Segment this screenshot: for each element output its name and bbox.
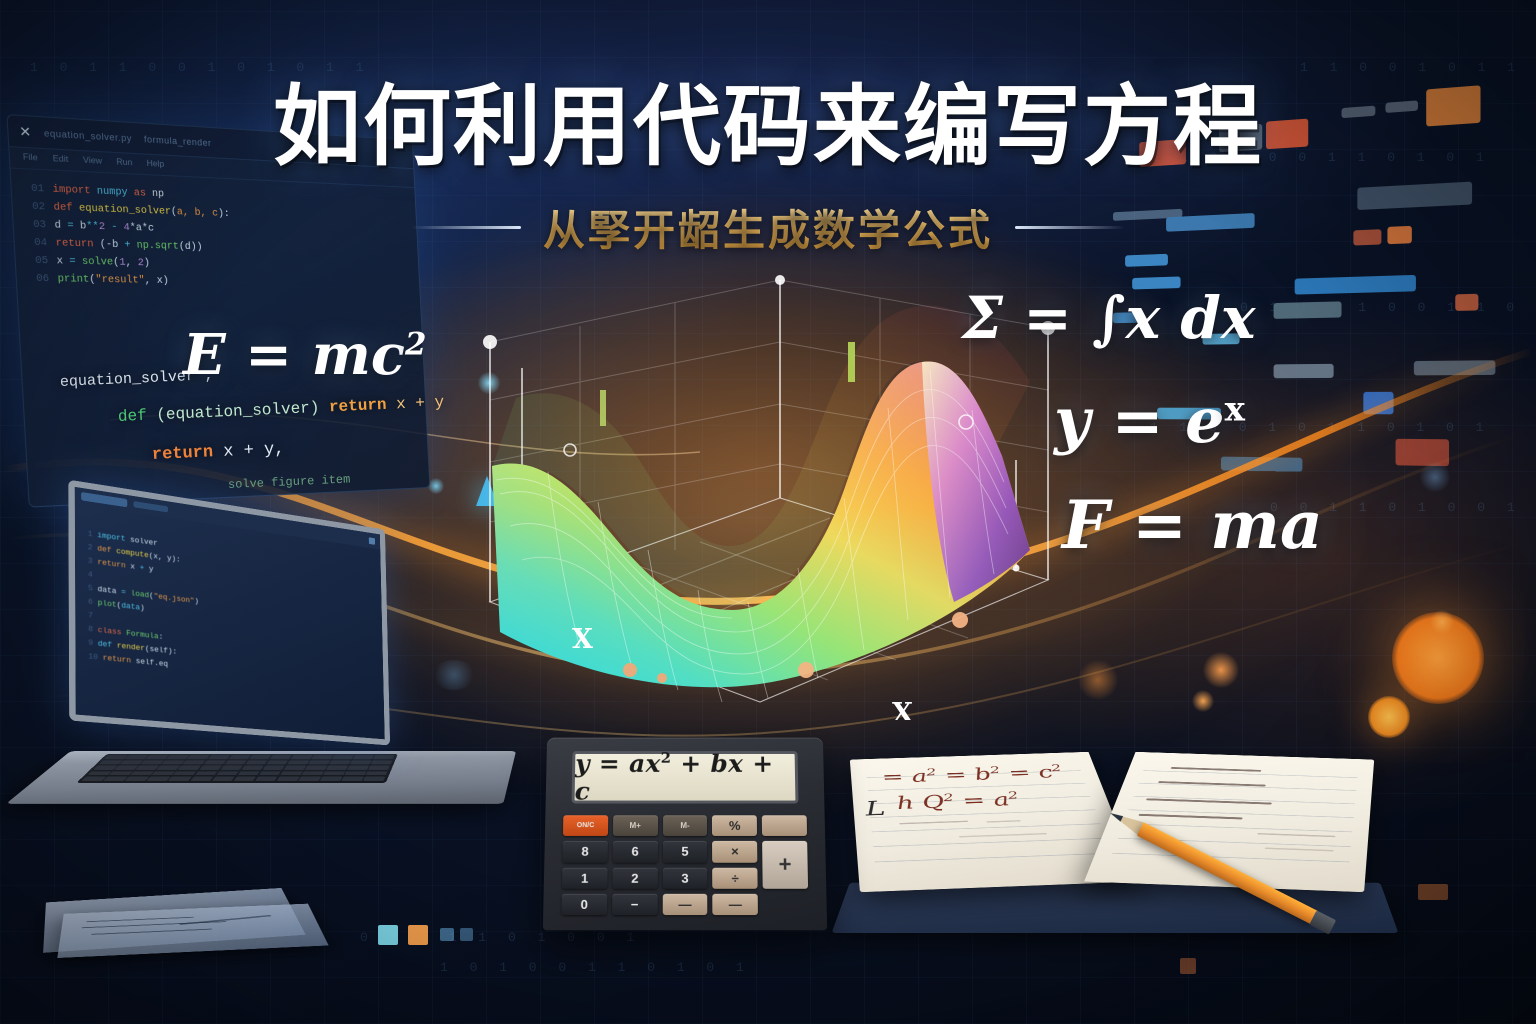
laptop-key[interactable] <box>276 777 299 782</box>
code-tokens: print("result", x) <box>57 271 169 290</box>
laptop-key[interactable] <box>255 777 278 782</box>
hw1-c: = c <box>998 763 1055 783</box>
calculator-key[interactable]: 5 <box>662 841 707 862</box>
laptop-key[interactable] <box>353 755 374 759</box>
hw1-a: = a <box>881 767 929 787</box>
subtitle-divider-right <box>1015 226 1125 229</box>
laptop-key[interactable] <box>298 777 321 782</box>
laptop-key[interactable] <box>368 766 390 771</box>
calculator-key[interactable]: — <box>713 894 758 915</box>
subtitle-block: 从孯开龆生成数学公式 <box>0 197 1536 258</box>
laptop-key[interactable] <box>266 760 288 765</box>
page-title: 如何利用代码来编写方程 <box>0 56 1536 183</box>
calculator-key[interactable]: 0 <box>561 894 607 915</box>
calculator-key[interactable]: 2 <box>612 867 657 888</box>
laptop-key[interactable] <box>284 766 306 771</box>
calculator-key[interactable]: ÷ <box>713 867 758 888</box>
laptop: 1 import solver2 def compute(x, y):3 ret… <box>40 505 510 875</box>
calculator-display: y = ax2 + bx + c <box>572 751 799 803</box>
laptop-key[interactable] <box>347 766 369 771</box>
overlay-expr2: x + y, <box>223 440 285 462</box>
laptop-key[interactable] <box>262 766 285 771</box>
window-close-icon[interactable] <box>369 537 375 545</box>
accent-square <box>440 928 454 941</box>
laptop-key[interactable] <box>326 766 348 771</box>
handwritten-formula-2: h Q2 = a2 <box>895 789 1022 814</box>
calc-display-a: y = ax <box>575 749 661 777</box>
laptop-key[interactable] <box>373 755 394 759</box>
overlay-keyword-def: def <box>118 406 157 426</box>
formula-sigma-text: Σ = ∫x dx <box>962 284 1255 352</box>
formula-sigma-integral: Σ = ∫x dx <box>962 284 1255 352</box>
laptop-key[interactable] <box>323 771 345 776</box>
laptop-key[interactable] <box>344 771 366 776</box>
axis-label-x-left: X <box>572 624 593 655</box>
plot-axis-right-value: X <box>0 0 1 1</box>
laptop-key[interactable] <box>363 777 385 782</box>
laptop-screen: 1 import solver2 def compute(x, y):3 ret… <box>68 480 390 746</box>
hw2-prefix: L <box>865 797 887 821</box>
accent-square <box>378 925 398 945</box>
laptop-key[interactable] <box>168 777 192 782</box>
calculator-key[interactable] <box>762 815 807 836</box>
laptop-key[interactable] <box>305 766 327 771</box>
accent-square <box>1180 958 1196 974</box>
calculator-key[interactable]: + <box>762 841 808 888</box>
laptop-key[interactable] <box>241 766 264 771</box>
laptop-key[interactable] <box>366 771 388 776</box>
laptop-key[interactable] <box>371 760 392 765</box>
calculator-keypad[interactable]: ON/CM+M-%865×+123÷0−—— <box>561 815 808 915</box>
laptop-key[interactable] <box>182 760 205 765</box>
laptop-key[interactable] <box>259 771 282 776</box>
laptop-key[interactable] <box>350 760 372 765</box>
laptop-key[interactable] <box>332 755 353 759</box>
hw2-a: h Q <box>895 792 946 814</box>
laptop-key[interactable] <box>199 766 222 771</box>
calculator-key[interactable]: 6 <box>612 841 657 862</box>
overlay-keyword-return: return <box>319 395 397 416</box>
laptop-key[interactable] <box>187 755 210 759</box>
laptop-key[interactable] <box>203 760 226 765</box>
calculator[interactable]: y = ax2 + bx + c ON/CM+M-%865×+123÷0−—— <box>543 738 827 931</box>
notebook: = a2 = b2 = c2 L h Q2 = a2 <box>855 718 1375 948</box>
formula-emc2-exp: 2 <box>405 326 426 362</box>
axis-label-x-right: X <box>892 698 913 720</box>
laptop-key[interactable] <box>287 760 309 765</box>
laptop-key[interactable] <box>220 766 243 771</box>
laptop-key[interactable] <box>329 760 351 765</box>
poster-canvas: 1 0 1 0 0 1 1 0 1 0 1 0 1 1 0 1 0 0 1 1 … <box>0 0 1536 1024</box>
laptop-key[interactable] <box>237 771 260 776</box>
formula-exp-text: y = e <box>1054 384 1225 457</box>
accent-square <box>1418 884 1448 900</box>
calculator-key[interactable]: 8 <box>562 841 607 862</box>
calculator-key[interactable]: − <box>612 894 657 915</box>
laptop-key[interactable] <box>207 755 230 759</box>
accent-square <box>460 928 473 941</box>
formula-newton: F = ma <box>1062 486 1323 564</box>
page-subtitle: 从孯开龆生成数学公式 <box>543 197 993 258</box>
calculator-key[interactable]: 3 <box>662 867 707 888</box>
plot-axis-left-value: X <box>0 0 1 1</box>
laptop-key[interactable] <box>216 771 239 776</box>
title-block: 如何利用代码来编写方程 从孯开龆生成数学公式 <box>0 56 1536 258</box>
calculator-display-text: y = ax2 + bx + c <box>574 749 795 806</box>
laptop-key[interactable] <box>311 755 333 759</box>
calculator-key[interactable]: 1 <box>562 867 607 888</box>
laptop-key[interactable] <box>280 771 303 776</box>
laptop-key[interactable] <box>270 755 292 759</box>
laptop-key[interactable] <box>233 777 256 782</box>
formula-newton-text: F = ma <box>1062 486 1323 564</box>
laptop-key[interactable] <box>228 755 250 759</box>
laptop-key[interactable] <box>341 777 363 782</box>
page-rules-right <box>1106 763 1358 878</box>
laptop-key[interactable] <box>308 760 330 765</box>
calculator-key[interactable]: M+ <box>613 815 658 836</box>
paper-sheet-front <box>57 904 328 958</box>
formula-exp-superscript: x <box>1225 389 1245 429</box>
calculator-key[interactable]: % <box>712 815 757 836</box>
calculator-key[interactable]: ON/C <box>563 815 608 836</box>
handwritten-prefix-L: L <box>865 797 887 821</box>
formula-emc2: E = mc2 <box>183 322 426 388</box>
calculator-key[interactable]: M- <box>663 815 708 836</box>
formula-exponential: y = ex <box>1054 384 1245 457</box>
laptop-key[interactable] <box>224 760 247 765</box>
calc-display-exp: 2 <box>661 749 672 766</box>
calculator-key[interactable]: — <box>662 894 707 915</box>
hw1-b: = b <box>935 765 993 785</box>
binary-row: 0 1 0 1 1 0 1 0 0 1 <box>360 930 641 945</box>
laptop-key[interactable] <box>189 777 213 782</box>
overlay-keyword-return2: return <box>152 443 224 465</box>
binary-row: 1 0 1 0 0 1 1 0 1 0 1 <box>440 960 751 975</box>
laptop-key[interactable] <box>245 760 268 765</box>
hw2-b: = a <box>952 790 1011 812</box>
laptop-key[interactable] <box>173 771 197 776</box>
laptop-key[interactable] <box>320 777 343 782</box>
line-number: 06 <box>25 270 50 288</box>
laptop-key[interactable] <box>290 755 312 759</box>
laptop-key[interactable] <box>177 766 200 771</box>
laptop-key[interactable] <box>301 771 324 776</box>
subtitle-divider-left <box>411 226 521 229</box>
calculator-key[interactable]: × <box>712 841 757 862</box>
formula-emc2-text: E = mc <box>183 322 405 388</box>
laptop-key[interactable] <box>249 755 271 759</box>
laptop-key[interactable] <box>194 771 218 776</box>
accent-square <box>408 925 428 945</box>
laptop-keyboard[interactable] <box>76 754 398 783</box>
laptop-key[interactable] <box>211 777 235 782</box>
